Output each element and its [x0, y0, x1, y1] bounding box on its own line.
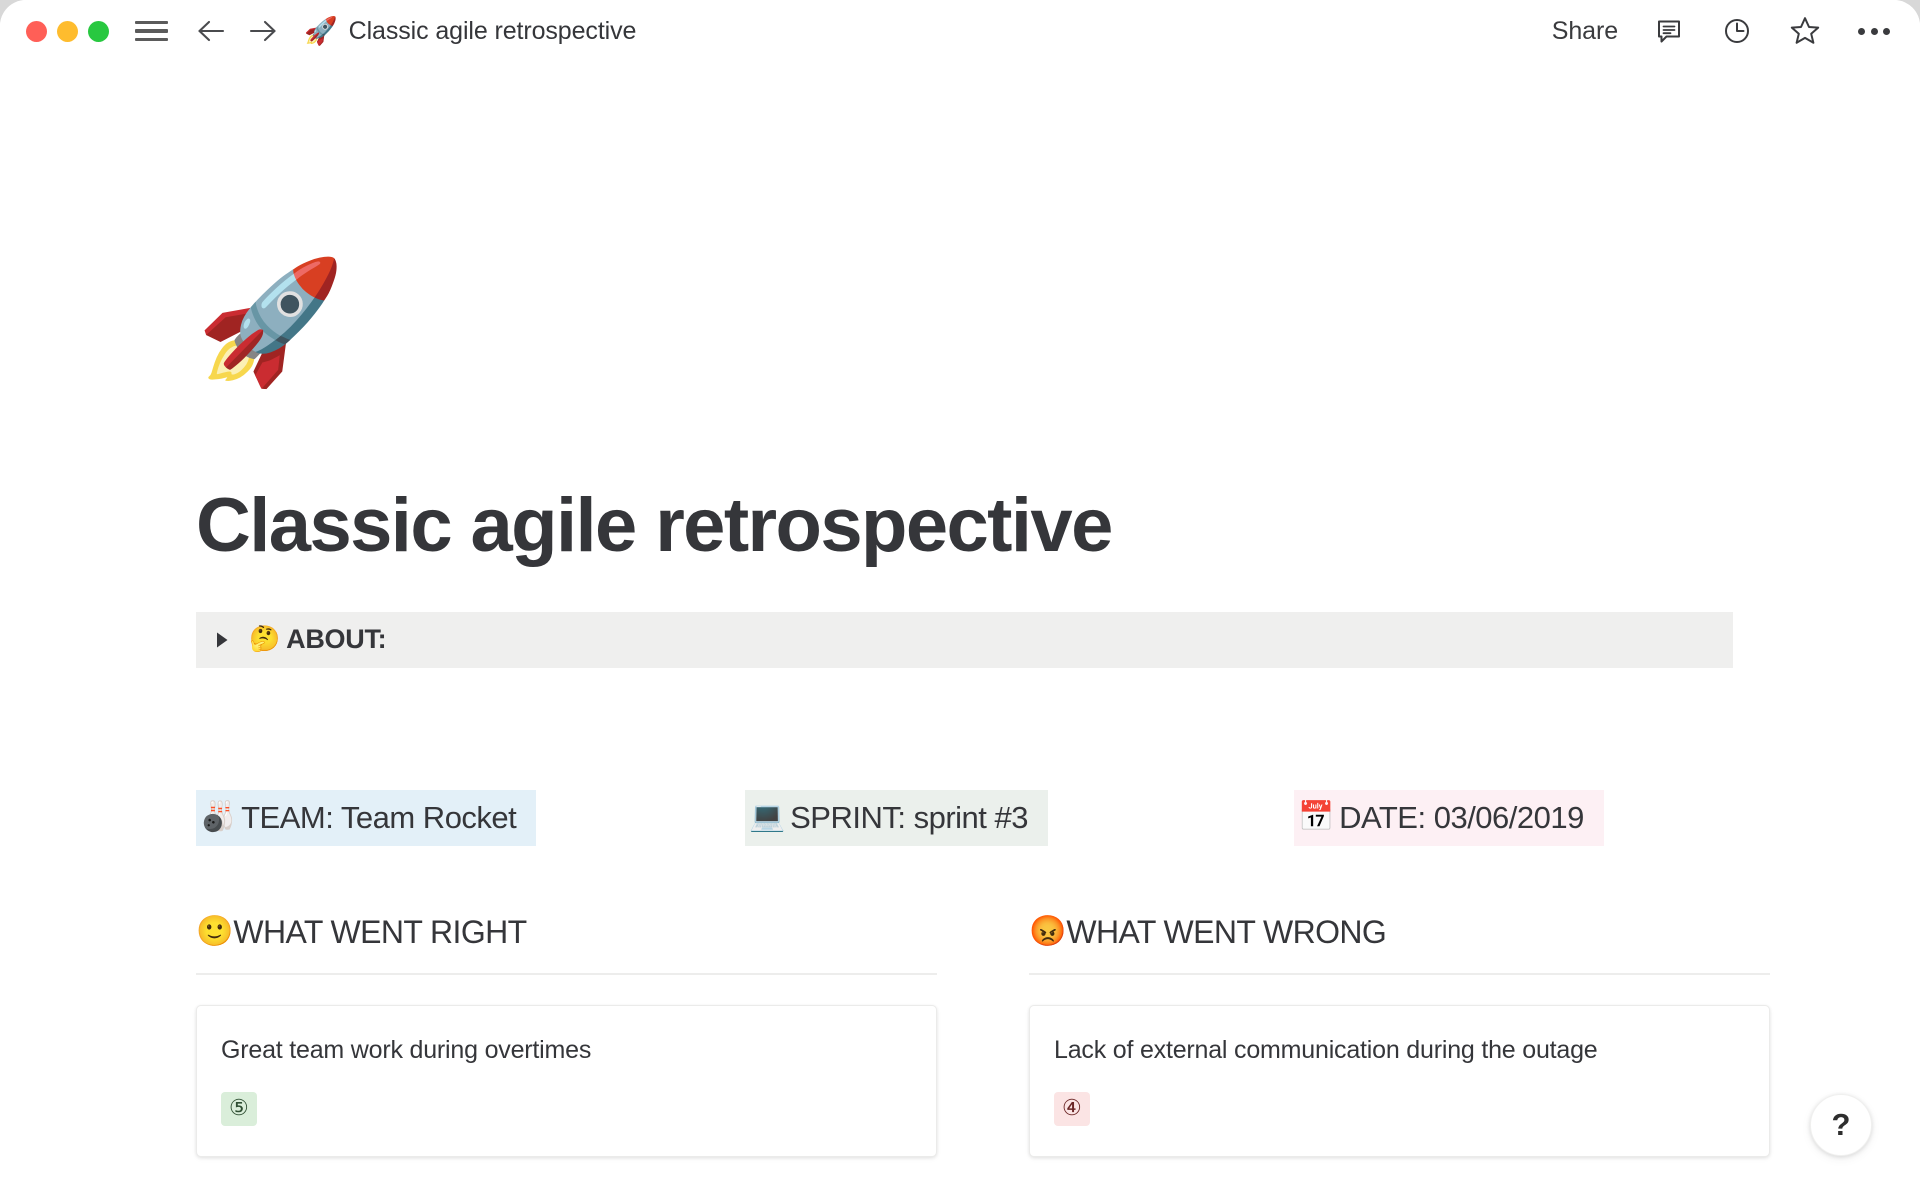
- close-window-button[interactable]: [26, 21, 47, 42]
- page-icon-rocket-icon[interactable]: 🚀: [196, 262, 1770, 412]
- column-heading-right-label: WHAT WENT RIGHT: [233, 914, 526, 951]
- app-window: 🚀 Classic agile retrospective Share: [0, 0, 1920, 1200]
- navigation-arrows: [196, 16, 278, 46]
- card-text: Great team work during overtimes: [221, 1034, 912, 1067]
- info-box-sprint[interactable]: 💻 SPRINT: sprint #3: [745, 790, 1048, 846]
- titlebar-actions: Share: [1552, 14, 1892, 48]
- bowling-icon: 🎳: [200, 803, 236, 832]
- calendar-icon: 📅: [1298, 803, 1334, 832]
- card-badges: ④: [1054, 1092, 1745, 1126]
- column-what-went-wrong: 😡 WHAT WENT WRONG Lack of external commu…: [1029, 914, 1770, 1158]
- retrospective-columns: 🙂 WHAT WENT RIGHT Great team work during…: [196, 914, 1770, 1158]
- page-content: 🚀 Classic agile retrospective 🤔 ABOUT: 🎳…: [0, 62, 1920, 1157]
- info-box-date[interactable]: 📅 DATE: 03/06/2019: [1294, 790, 1604, 846]
- card-text: Lack of external communication during th…: [1054, 1034, 1745, 1067]
- info-box-team-label: TEAM: Team Rocket: [241, 800, 516, 836]
- title-bar: 🚀 Classic agile retrospective Share: [0, 0, 1920, 62]
- card-what-went-wrong[interactable]: Lack of external communication during th…: [1029, 1005, 1770, 1158]
- info-box-team[interactable]: 🎳 TEAM: Team Rocket: [196, 790, 536, 846]
- arrow-left-icon[interactable]: [196, 16, 226, 46]
- window-controls: [26, 21, 109, 42]
- angry-face-icon: 😡: [1029, 917, 1066, 947]
- star-icon[interactable]: [1788, 14, 1822, 48]
- comment-icon[interactable]: [1652, 14, 1686, 48]
- vote-badge[interactable]: ④: [1054, 1092, 1090, 1126]
- card-badges: ⑤: [221, 1092, 912, 1126]
- rocket-icon: 🚀: [304, 18, 338, 45]
- toggle-block-about[interactable]: 🤔 ABOUT:: [196, 612, 1733, 668]
- share-button[interactable]: Share: [1552, 17, 1618, 46]
- vote-badge[interactable]: ⑤: [221, 1092, 257, 1126]
- breadcrumb-title: Classic agile retrospective: [349, 17, 637, 46]
- minimize-window-button[interactable]: [57, 21, 78, 42]
- hamburger-icon[interactable]: [135, 18, 168, 44]
- page-title[interactable]: Classic agile retrospective: [196, 484, 1770, 568]
- column-heading-wrong-label: WHAT WENT WRONG: [1066, 914, 1386, 951]
- info-box-sprint-label: SPRINT: sprint #3: [790, 800, 1028, 836]
- toggle-label: ABOUT:: [286, 624, 386, 655]
- column-what-went-right: 🙂 WHAT WENT RIGHT Great team work during…: [196, 914, 937, 1158]
- clock-icon[interactable]: [1720, 14, 1754, 48]
- slightly-smiling-face-icon: 🙂: [196, 917, 233, 947]
- thinking-face-icon: 🤔: [249, 627, 280, 652]
- column-heading-wrong: 😡 WHAT WENT WRONG: [1029, 914, 1770, 975]
- maximize-window-button[interactable]: [88, 21, 109, 42]
- breadcrumb[interactable]: 🚀 Classic agile retrospective: [304, 17, 636, 46]
- info-boxes-row: 🎳 TEAM: Team Rocket 💻 SPRINT: sprint #3 …: [196, 790, 1770, 846]
- triangle-right-icon[interactable]: [212, 631, 232, 649]
- laptop-icon: 💻: [749, 803, 785, 832]
- column-heading-right: 🙂 WHAT WENT RIGHT: [196, 914, 937, 975]
- card-what-went-right[interactable]: Great team work during overtimes ⑤: [196, 1005, 937, 1158]
- info-box-date-label: DATE: 03/06/2019: [1339, 800, 1584, 836]
- more-options-icon[interactable]: [1856, 22, 1892, 41]
- arrow-right-icon[interactable]: [248, 16, 278, 46]
- help-button[interactable]: ?: [1810, 1094, 1872, 1156]
